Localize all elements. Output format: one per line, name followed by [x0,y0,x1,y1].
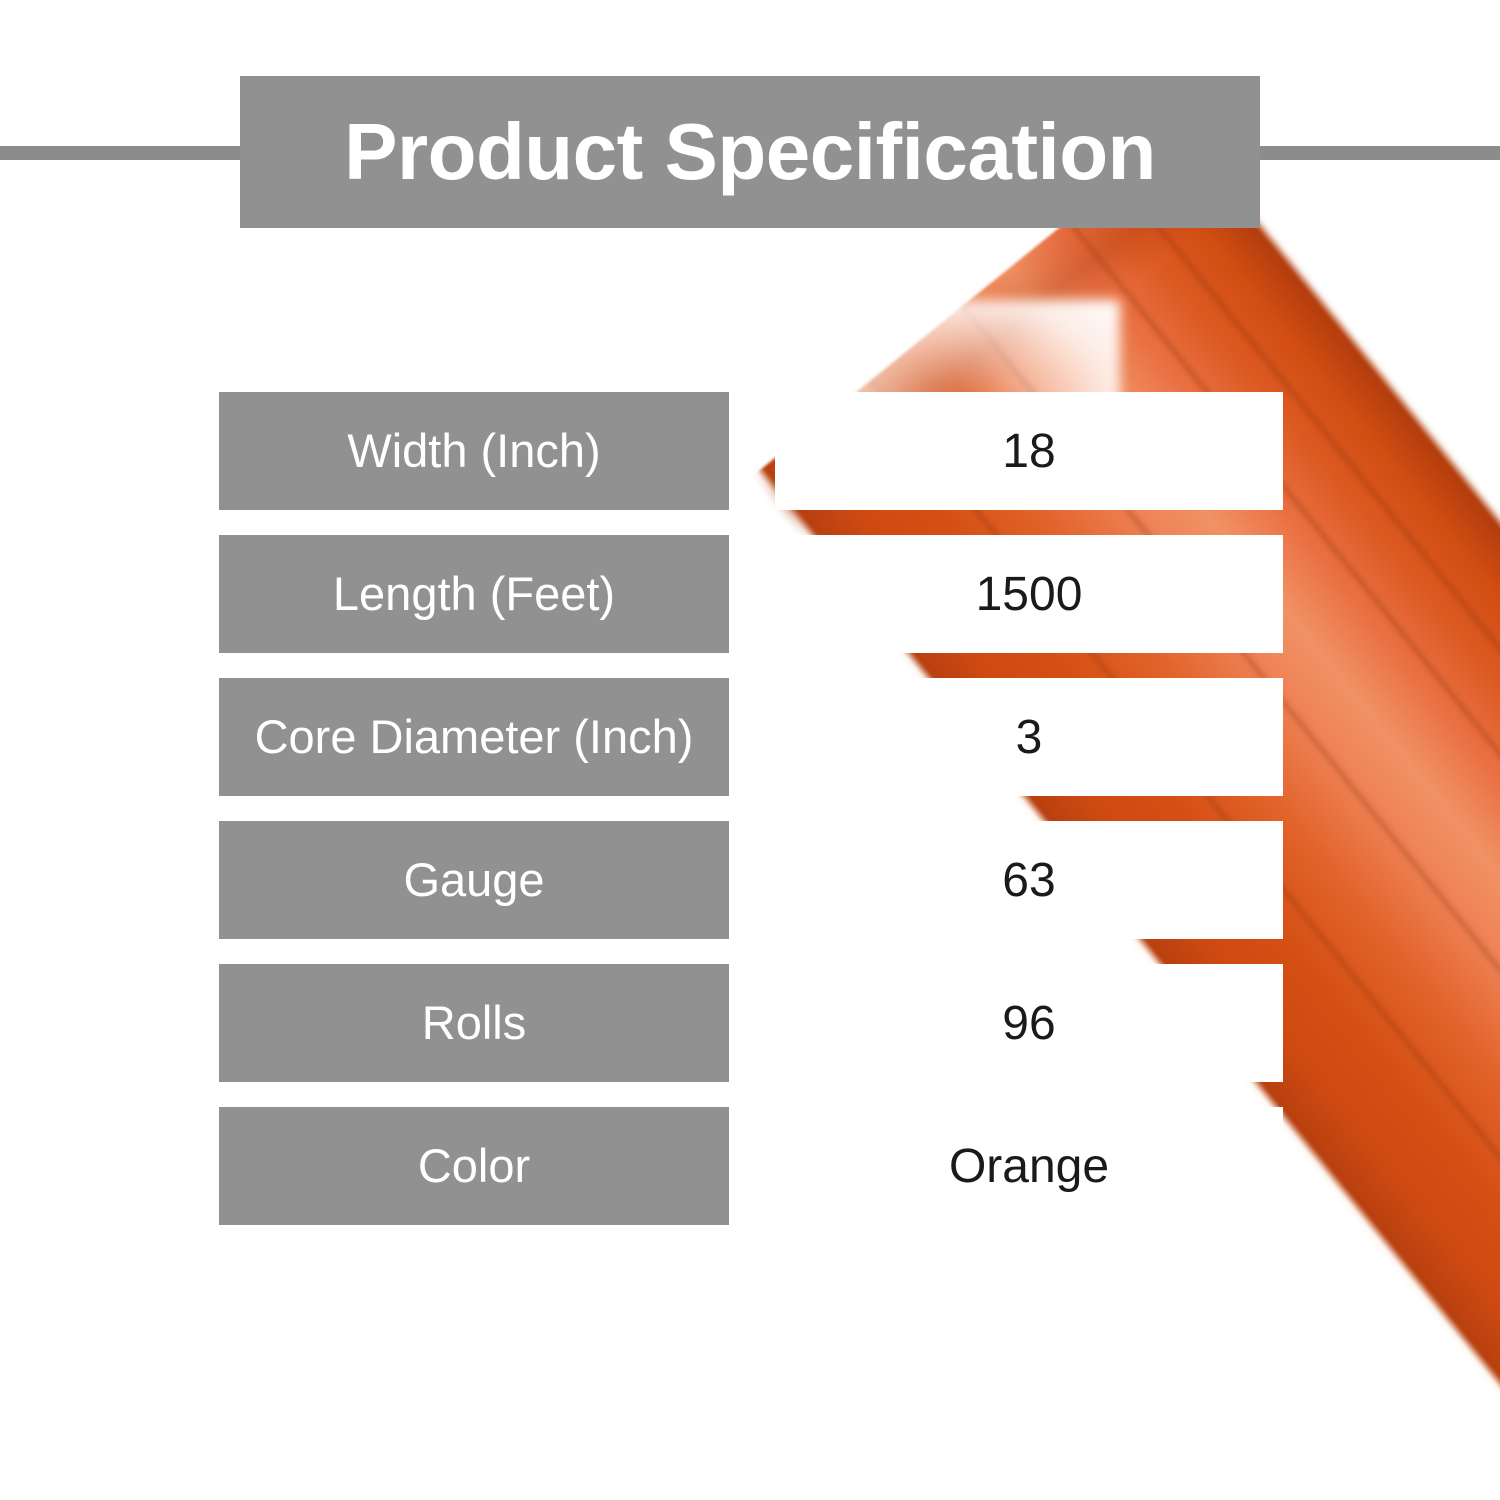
specification-table: Width (Inch) 18 Length (Feet) 1500 Core … [0,392,1500,1250]
spec-value-length: 1500 [775,535,1283,653]
spec-value-gauge: 63 [775,821,1283,939]
spec-value-rolls: 96 [775,964,1283,1082]
page-title: Product Specification [344,112,1156,192]
header-rule-left [0,146,250,160]
spec-label-gauge: Gauge [219,821,729,939]
spec-value-core-diameter: 3 [775,678,1283,796]
table-row: Gauge 63 [0,821,1500,939]
table-row: Length (Feet) 1500 [0,535,1500,653]
spec-label-length: Length (Feet) [219,535,729,653]
header-rule-right [1250,146,1500,160]
table-row: Core Diameter (Inch) 3 [0,678,1500,796]
table-row: Rolls 96 [0,964,1500,1082]
spec-label-color: Color [219,1107,729,1225]
spec-label-width: Width (Inch) [219,392,729,510]
spec-value-color: Orange [775,1107,1283,1225]
spec-label-rolls: Rolls [219,964,729,1082]
table-row: Color Orange [0,1107,1500,1225]
product-specification-graphic: Product Specification Width (Inch) 18 Le… [0,0,1500,1500]
spec-value-width: 18 [775,392,1283,510]
header-banner: Product Specification [240,76,1260,228]
table-row: Width (Inch) 18 [0,392,1500,510]
spec-label-core-diameter: Core Diameter (Inch) [219,678,729,796]
